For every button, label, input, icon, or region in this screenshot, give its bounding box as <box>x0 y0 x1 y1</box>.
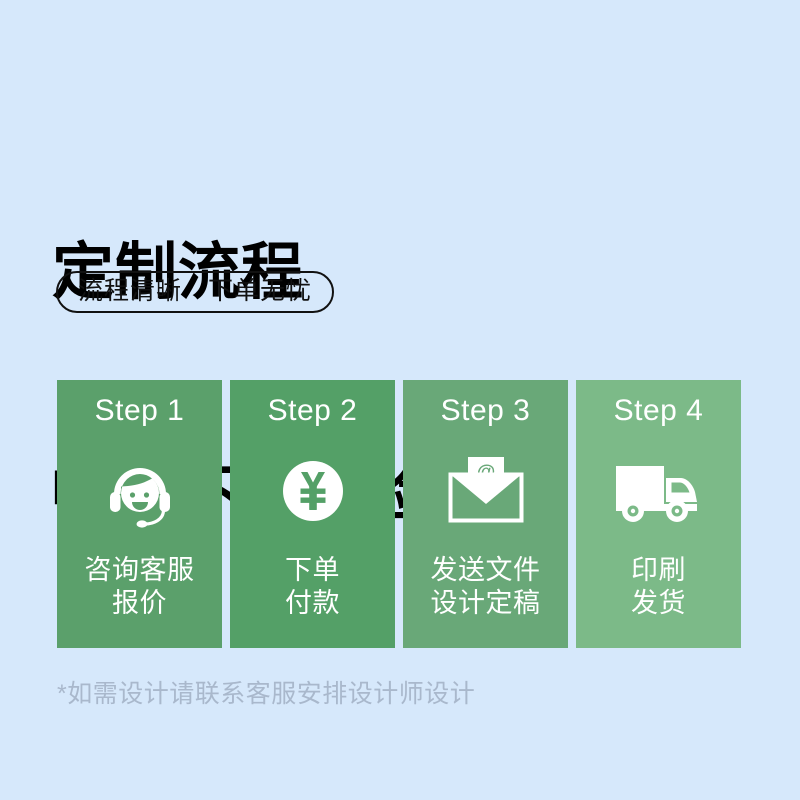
tagline-badge-text: 流程清晰 下单无忧 <box>78 279 312 304</box>
step-title-2: Step 2 <box>268 396 358 426</box>
step-label-2: 下单 付款 <box>285 554 340 620</box>
step-card-1[interactable]: Step 1 <box>57 380 222 648</box>
step-title-3: Step 3 <box>441 396 531 426</box>
tagline-badge: 流程清晰 下单无忧 <box>56 271 334 313</box>
step-card-3[interactable]: Step 3 @ 发送文件 设计定稿 <box>403 380 568 648</box>
step-title-1: Step 1 <box>95 396 185 426</box>
step-label-3: 发送文件 设计定稿 <box>431 554 541 620</box>
footnote: *如需设计请联系客服安排设计师设计 <box>57 682 475 707</box>
promo-poster: 定制流程 畅快下单体验 流程清晰 下单无忧 Step 1 <box>0 0 800 800</box>
step-card-4[interactable]: Step 4 <box>576 380 741 648</box>
headset-support-icon <box>101 452 179 530</box>
email-envelope-icon: @ <box>445 452 527 530</box>
step-title-4: Step 4 <box>614 396 704 426</box>
delivery-truck-icon <box>613 452 705 530</box>
steps-row: Step 1 <box>57 380 741 648</box>
step-label-1: 咨询客服 报价 <box>85 554 195 620</box>
yuan-coin-icon <box>274 452 352 530</box>
step-card-2[interactable]: Step 2 下单 付款 <box>230 380 395 648</box>
step-label-4: 印刷 发货 <box>631 554 686 620</box>
